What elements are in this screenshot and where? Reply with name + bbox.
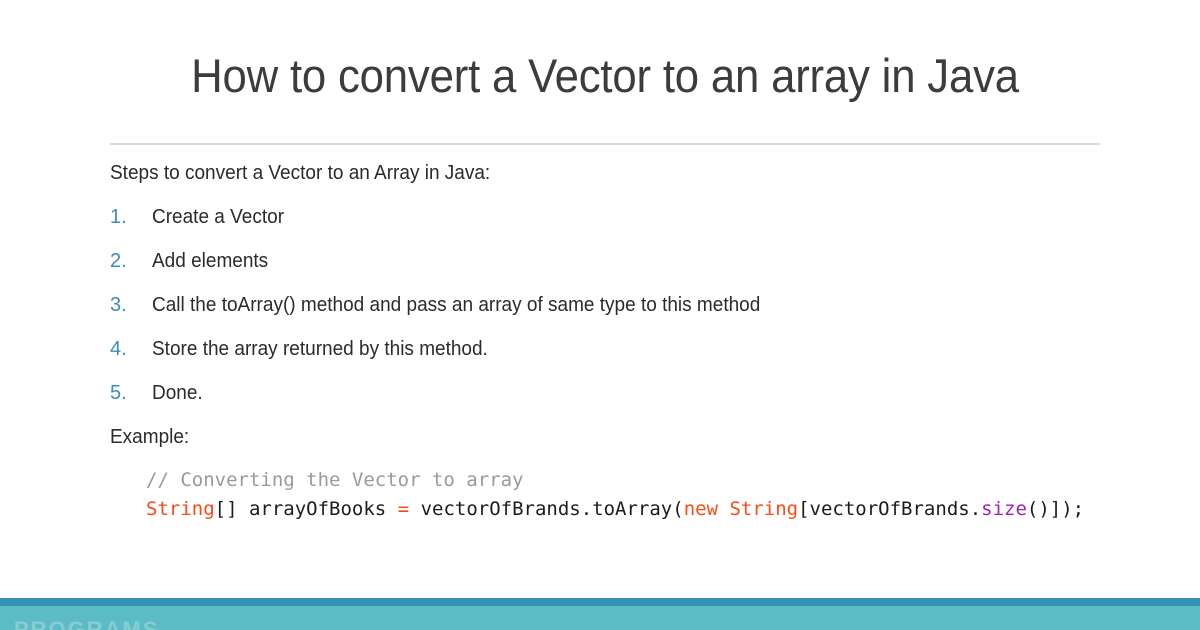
step-text: Create a Vector (152, 204, 284, 230)
slide-body: Steps to convert a Vector to an Array in… (110, 160, 1170, 524)
footer-brand-text: PROGRAMS (14, 619, 160, 630)
example-label: Example: (110, 424, 1117, 464)
steps-list: 1. Create a Vector 2. Add elements 3. Ca… (110, 204, 1170, 424)
code-assign-operator: = (398, 498, 409, 520)
step-number: 3. (110, 292, 152, 318)
footer-accent-bar (0, 598, 1200, 606)
step-number: 4. (110, 336, 152, 362)
step-text: Add elements (152, 248, 268, 274)
list-item: 3. Call the toArray() method and pass an… (110, 292, 1170, 336)
code-type-keyword: String (146, 498, 215, 520)
intro-text: Steps to convert a Vector to an Array in… (110, 160, 1117, 204)
step-number: 2. (110, 248, 152, 274)
footer-band: PROGRAMS (0, 606, 1200, 630)
step-text: Store the array returned by this method. (152, 336, 488, 362)
code-type-keyword-2: String (718, 498, 798, 520)
code-method-call: vectorOfBrands.toArray( (409, 498, 684, 520)
code-size-method: size (981, 498, 1027, 520)
code-open-bracket: [ (798, 498, 809, 520)
code-new-keyword: new (684, 498, 718, 520)
step-number: 5. (110, 380, 152, 406)
list-item: 2. Add elements (110, 248, 1170, 292)
step-text: Call the toArray() method and pass an ar… (152, 292, 760, 318)
code-brackets: [] (215, 498, 249, 520)
code-snippet: // Converting the Vector to array String… (146, 466, 1170, 524)
list-item: 4. Store the array returned by this meth… (110, 336, 1170, 380)
code-tail: ()]); (1027, 498, 1084, 520)
page-title: How to convert a Vector to an array in J… (145, 45, 1066, 107)
code-comment: // Converting the Vector to array (146, 469, 524, 491)
list-item: 5. Done. (110, 380, 1170, 424)
step-number: 1. (110, 204, 152, 230)
title-divider (110, 143, 1100, 145)
code-receiver: vectorOfBrands. (810, 498, 982, 520)
step-text: Done. (152, 380, 203, 406)
code-variable: arrayOfBooks (249, 498, 398, 520)
list-item: 1. Create a Vector (110, 204, 1170, 248)
slide-canvas: How to convert a Vector to an array in J… (0, 0, 1200, 630)
